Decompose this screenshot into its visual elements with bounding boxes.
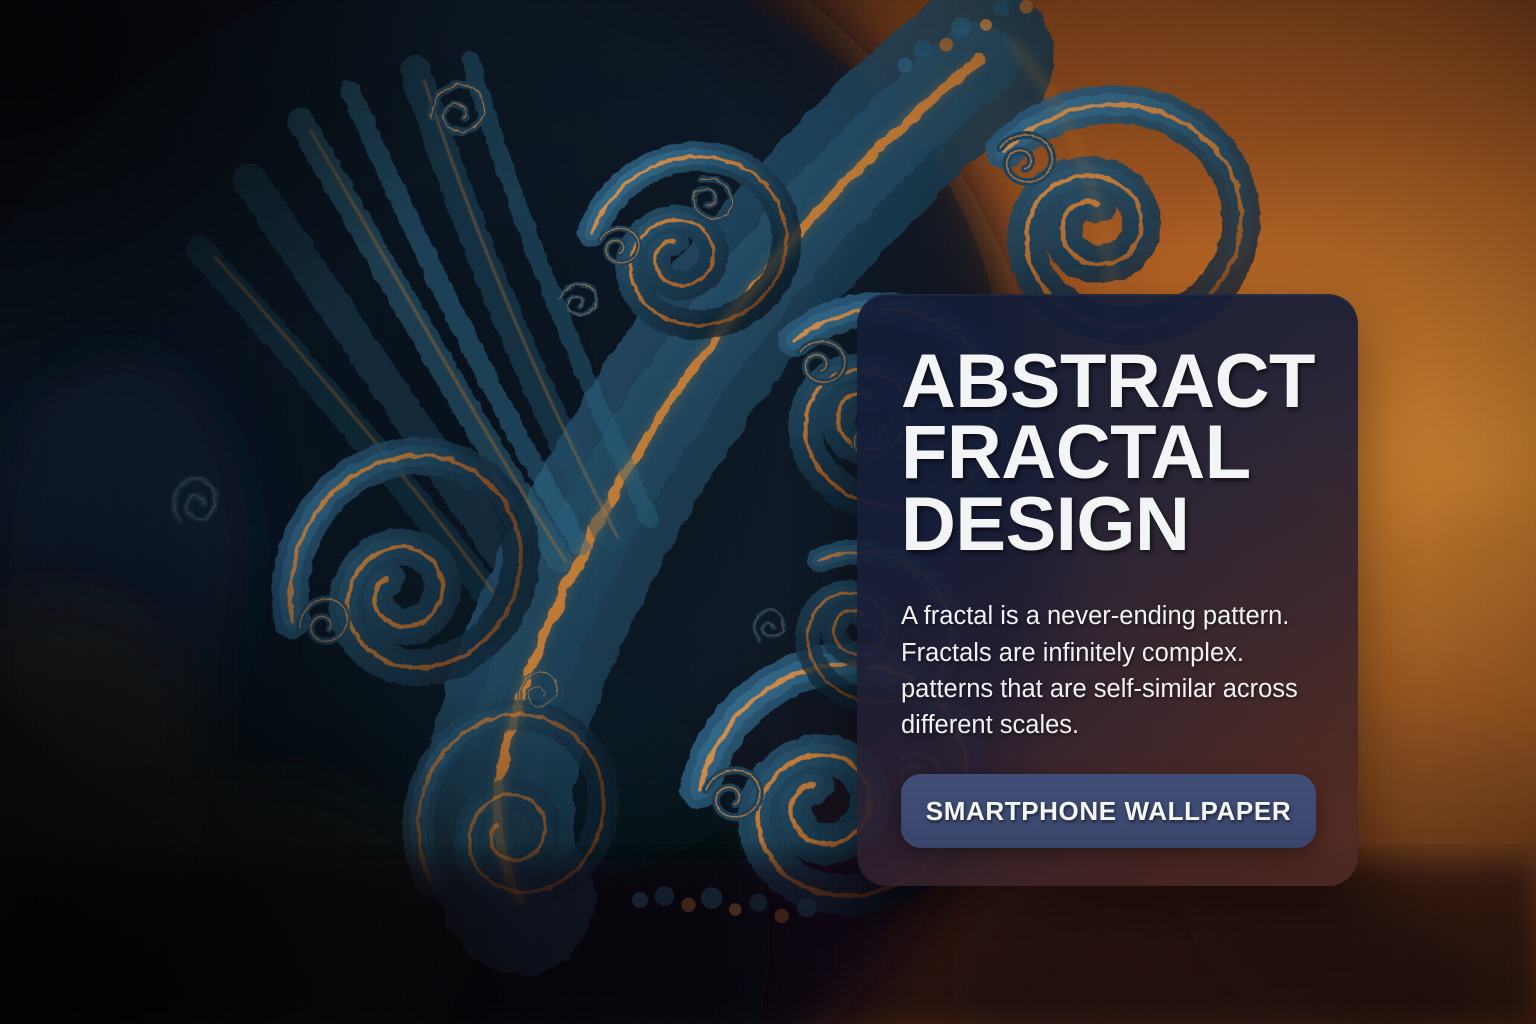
card-description: A fractal is a never-ending pattern. Fra… xyxy=(901,598,1314,743)
smartphone-wallpaper-button[interactable]: SMARTPHONE WALLPAPER xyxy=(901,774,1316,848)
info-card: ABSTRACT FRACTAL DESIGN A fractal is a n… xyxy=(857,294,1358,886)
page-title: ABSTRACT FRACTAL DESIGN xyxy=(901,346,1314,560)
wallpaper-preview-screen: ABSTRACT FRACTAL DESIGN A fractal is a n… xyxy=(0,0,1536,1024)
title-line-3: DESIGN xyxy=(901,489,1314,560)
title-line-1: ABSTRACT xyxy=(901,346,1314,417)
title-line-2: FRACTAL xyxy=(901,417,1314,488)
